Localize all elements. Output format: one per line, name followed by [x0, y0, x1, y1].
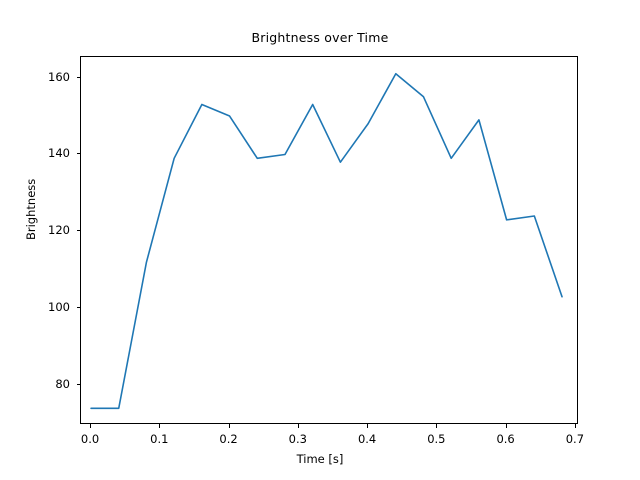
x-tick-mark [367, 424, 368, 428]
x-tick-mark [298, 424, 299, 428]
y-axis-tick-labels: 80100120140160 [0, 56, 70, 424]
chart-figure: Brightness over Time Brightness 80100120… [0, 0, 640, 480]
x-axis-label: Time [s] [0, 452, 640, 466]
x-tick-mark [575, 424, 576, 428]
x-tick-label: 0.7 [566, 432, 584, 446]
x-tick-label: 0.4 [358, 432, 376, 446]
chart-title: Brightness over Time [0, 30, 640, 45]
y-tick-label: 140 [48, 146, 70, 160]
x-tick-label: 0.2 [219, 432, 237, 446]
x-tick-mark [229, 424, 230, 428]
x-tick-label: 0.0 [81, 432, 99, 446]
y-tick-label: 80 [55, 377, 70, 391]
x-tick-label: 0.6 [496, 432, 514, 446]
x-tick-label: 0.3 [289, 432, 307, 446]
y-tick-label: 120 [48, 223, 70, 237]
y-tick-label: 100 [48, 300, 70, 314]
x-tick-mark [159, 424, 160, 428]
x-axis-tick-labels: 0.00.10.20.30.40.50.60.7 [80, 430, 578, 450]
brightness-line [91, 74, 562, 409]
x-tick-mark [436, 424, 437, 428]
plot-area [80, 56, 578, 424]
x-tick-mark [90, 424, 91, 428]
y-tick-label: 160 [48, 70, 70, 84]
line-series-svg [81, 57, 579, 425]
x-tick-mark [506, 424, 507, 428]
x-tick-label: 0.5 [427, 432, 445, 446]
x-tick-label: 0.1 [150, 432, 168, 446]
